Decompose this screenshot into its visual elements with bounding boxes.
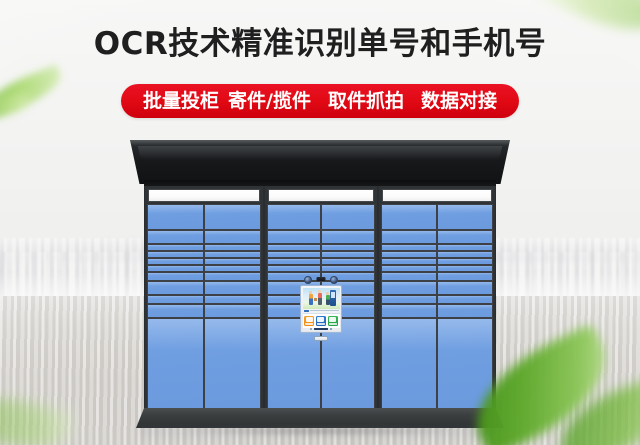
- locker-door[interactable]: [381, 318, 437, 410]
- locker-door[interactable]: [381, 244, 437, 251]
- hero-person-3: [326, 295, 330, 305]
- locker-door[interactable]: [437, 318, 493, 410]
- locker-door[interactable]: [437, 244, 493, 251]
- send-icon: [329, 317, 336, 322]
- pickup-parcel-button[interactable]: [316, 316, 326, 326]
- locker-door[interactable]: [204, 204, 261, 230]
- parcel-locker-cabinet: [136, 140, 504, 428]
- locker-row: [267, 265, 375, 272]
- locker-row: [147, 272, 261, 281]
- deposit-icon: [306, 317, 313, 322]
- hero-person-1: [309, 294, 313, 305]
- kiosk-screen[interactable]: [303, 288, 340, 331]
- locker-row: [381, 204, 493, 230]
- feature-item-1: 批量投柜: [143, 84, 219, 118]
- section-header-panel-right: [382, 189, 492, 202]
- kiosk-screen-bezel: [300, 285, 342, 333]
- locker-door[interactable]: [147, 265, 204, 272]
- hero-person-2: [318, 293, 322, 305]
- locker-door[interactable]: [381, 265, 437, 272]
- locker-door[interactable]: [204, 265, 261, 272]
- locker-grid-right: [381, 204, 493, 410]
- locker-door[interactable]: [321, 204, 375, 230]
- poster-canvas: OCR技术精准识别单号和手机号 批量投柜寄件/揽件取件抓拍数据对接: [0, 0, 640, 445]
- locker-door[interactable]: [437, 265, 493, 272]
- locker-row: [381, 295, 493, 304]
- feature-item-4: 数据对接: [421, 84, 497, 118]
- locker-row: [267, 251, 375, 258]
- pickup-label: [317, 323, 325, 325]
- locker-row: [147, 258, 261, 265]
- locker-door[interactable]: [147, 272, 204, 281]
- locker-row: [147, 281, 261, 295]
- locker-door[interactable]: [204, 258, 261, 265]
- locker-row: [381, 318, 493, 410]
- kiosk-terminal[interactable]: [299, 274, 343, 344]
- locker-door[interactable]: [437, 251, 493, 258]
- camera-lens-right-icon: [330, 276, 338, 284]
- locker-door-kiosk[interactable]: [321, 258, 375, 265]
- footer-dot: [310, 328, 312, 330]
- locker-door[interactable]: [381, 281, 437, 295]
- send-label: [329, 323, 337, 325]
- locker-door[interactable]: [204, 295, 261, 304]
- section-header-panel-center: [268, 189, 374, 202]
- locker-row: [147, 304, 261, 318]
- locker-row: [147, 265, 261, 272]
- locker-door[interactable]: [204, 230, 261, 244]
- locker-door[interactable]: [147, 251, 204, 258]
- locker-door[interactable]: [437, 258, 493, 265]
- locker-row: [381, 281, 493, 295]
- locker-door[interactable]: [437, 281, 493, 295]
- locker-door[interactable]: [381, 304, 437, 318]
- locker-grid-left: [147, 204, 261, 410]
- deposit-parcel-button[interactable]: [304, 316, 314, 326]
- locker-door-kiosk[interactable]: [321, 265, 375, 272]
- locker-row: [381, 272, 493, 281]
- locker-door[interactable]: [267, 265, 321, 272]
- locker-row: [267, 230, 375, 244]
- canopy-front-edge: [130, 140, 510, 145]
- notice-text-line: [310, 310, 339, 311]
- locker-section-center: [264, 186, 378, 412]
- locker-row: [147, 244, 261, 251]
- locker-door[interactable]: [267, 204, 321, 230]
- locker-door[interactable]: [437, 304, 493, 318]
- locker-door[interactable]: [147, 258, 204, 265]
- locker-door[interactable]: [204, 304, 261, 318]
- screen-hero-banner: [303, 288, 340, 309]
- feature-item-3: 取件抓拍: [328, 84, 404, 118]
- locker-door[interactable]: [381, 295, 437, 304]
- send-parcel-button[interactable]: [328, 316, 338, 326]
- locker-door-kiosk[interactable]: [321, 244, 375, 251]
- deposit-label: [305, 323, 313, 325]
- locker-door[interactable]: [204, 251, 261, 258]
- canopy-highlight: [138, 146, 503, 160]
- locker-door[interactable]: [381, 204, 437, 230]
- locker-row: [147, 295, 261, 304]
- locker-door[interactable]: [437, 272, 493, 281]
- camera-lens-left-icon: [304, 276, 312, 284]
- locker-door[interactable]: [147, 281, 204, 295]
- locker-row: [267, 244, 375, 251]
- page-title: OCR技术精准识别单号和手机号: [0, 26, 640, 62]
- card-reader-slot-icon[interactable]: [314, 336, 328, 341]
- locker-door[interactable]: [147, 318, 204, 410]
- kiosk-sensor-row: [299, 274, 343, 283]
- locker-door[interactable]: [437, 295, 493, 304]
- hero-locker-illustration: [330, 290, 336, 306]
- locker-row: [381, 251, 493, 258]
- footer-dash: [314, 328, 328, 330]
- locker-door[interactable]: [267, 258, 321, 265]
- locker-row: [147, 230, 261, 244]
- section-header-panel-left: [148, 189, 260, 202]
- locker-row: [147, 251, 261, 258]
- locker-door[interactable]: [267, 244, 321, 251]
- cabinet-ground-reflection: [140, 428, 500, 444]
- locker-row: [147, 318, 261, 410]
- locker-door[interactable]: [204, 272, 261, 281]
- locker-door[interactable]: [267, 230, 321, 244]
- locker-door[interactable]: [381, 230, 437, 244]
- locker-row: [381, 230, 493, 244]
- infrared-bar-icon: [317, 277, 326, 281]
- locker-door[interactable]: [204, 281, 261, 295]
- locker-door-kiosk[interactable]: [321, 251, 375, 258]
- feature-item-2: 寄件/揽件: [228, 84, 311, 118]
- locker-door[interactable]: [437, 204, 493, 230]
- screen-action-buttons: [303, 314, 340, 328]
- locker-door-kiosk[interactable]: [321, 230, 375, 244]
- locker-row: [267, 204, 375, 230]
- locker-door[interactable]: [381, 258, 437, 265]
- locker-section-right: [378, 186, 496, 412]
- cabinet-body: [144, 186, 496, 412]
- locker-door[interactable]: [204, 244, 261, 251]
- locker-door[interactable]: [381, 251, 437, 258]
- locker-row: [381, 244, 493, 251]
- locker-door[interactable]: [147, 244, 204, 251]
- locker-row: [147, 204, 261, 230]
- notice-tag: [304, 310, 309, 312]
- pickup-icon: [317, 317, 324, 322]
- locker-door[interactable]: [204, 318, 261, 410]
- locker-door[interactable]: [267, 251, 321, 258]
- footer-dot: [330, 328, 332, 330]
- screen-footer-bar: [303, 328, 340, 331]
- locker-row: [267, 258, 375, 265]
- locker-door[interactable]: [147, 304, 204, 318]
- locker-door[interactable]: [437, 230, 493, 244]
- locker-door[interactable]: [147, 204, 204, 230]
- locker-row: [381, 304, 493, 318]
- locker-door[interactable]: [381, 272, 437, 281]
- cabinet-canopy: [130, 140, 510, 184]
- locker-door[interactable]: [147, 230, 204, 244]
- hero-parcel-box: [314, 298, 317, 301]
- locker-door[interactable]: [147, 295, 204, 304]
- locker-row: [381, 265, 493, 272]
- feature-badge: 批量投柜寄件/揽件取件抓拍数据对接: [121, 84, 519, 118]
- locker-section-left: [144, 186, 264, 412]
- locker-row: [381, 258, 493, 265]
